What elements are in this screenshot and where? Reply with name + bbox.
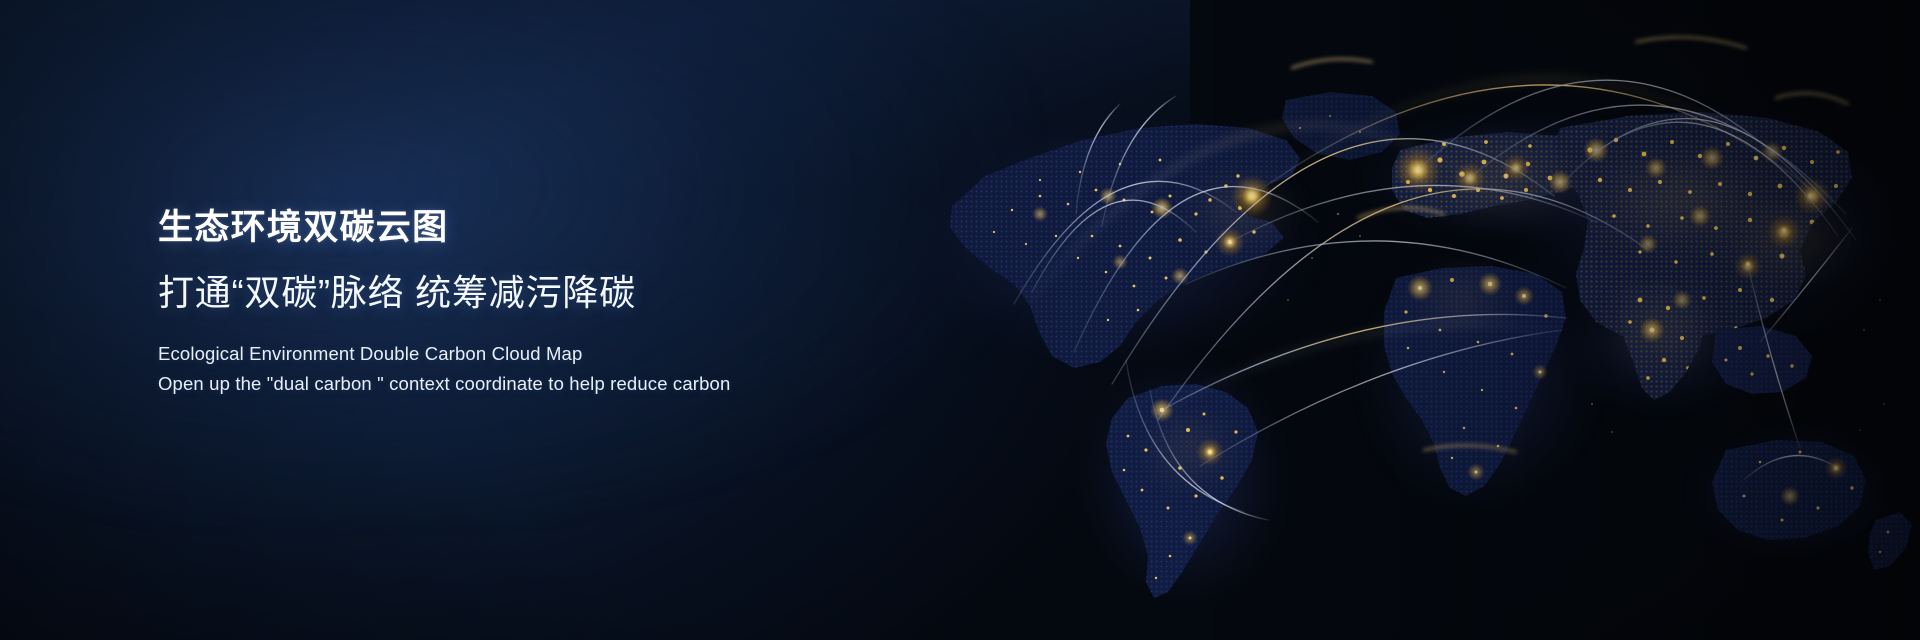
english-subtitle-line-2: Open up the "dual carbon " context coord…: [158, 371, 918, 398]
english-subtitle-block: Ecological Environment Double Carbon Clo…: [158, 341, 918, 398]
hero-banner: 生态环境双碳云图 打通“双碳”脉络 统筹减污降碳 Ecological Envi…: [0, 0, 1920, 640]
page-title: 生态环境双碳云图: [158, 206, 918, 251]
hero-text-block: 生态环境双碳云图 打通“双碳”脉络 统筹减污降碳 Ecological Envi…: [158, 206, 918, 397]
page-subtitle: 打通“双碳”脉络 统筹减污降碳: [158, 271, 918, 315]
english-subtitle-line-1: Ecological Environment Double Carbon Clo…: [158, 341, 918, 368]
